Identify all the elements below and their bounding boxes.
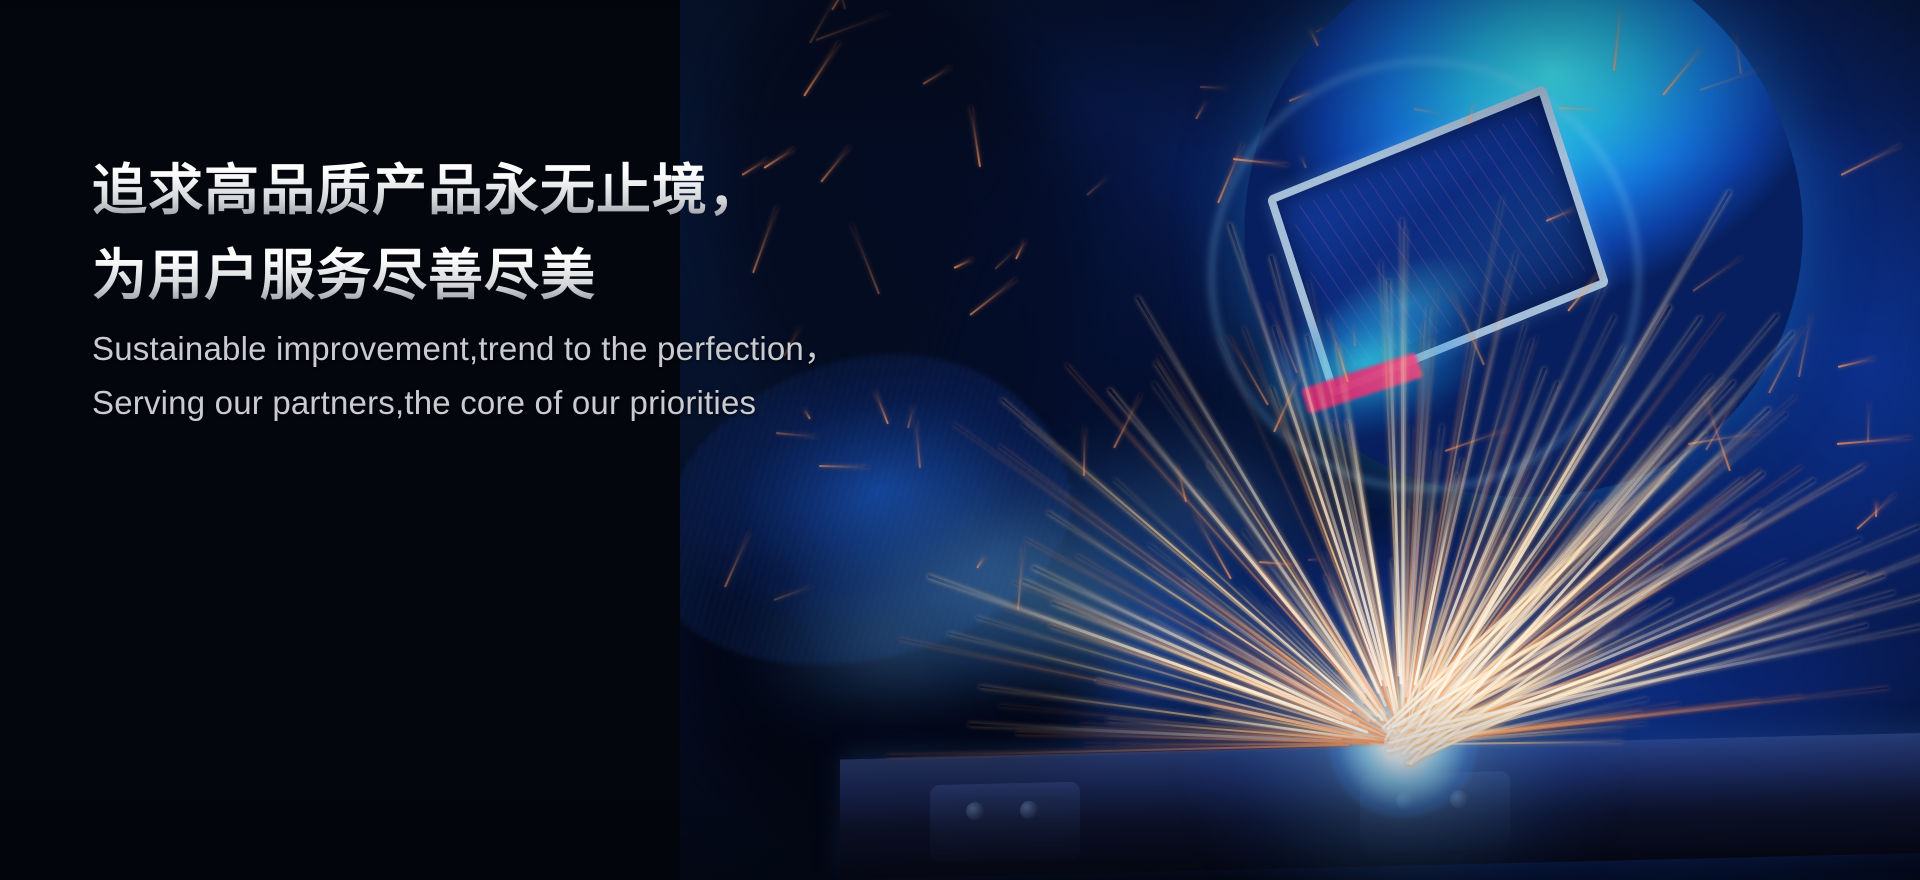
spark-ember	[1692, 255, 1743, 291]
subtitle-line-2: Serving our partners,the core of our pri…	[92, 380, 837, 426]
spark-ember	[1838, 357, 1876, 368]
headline-line-1: 追求高品质产品永无止境，	[92, 148, 837, 233]
spark-ember	[816, 12, 891, 41]
spark-ember	[1559, 107, 1597, 111]
spark-ember	[774, 585, 814, 601]
spark-ember	[1017, 546, 1024, 611]
spark-ember	[1837, 437, 1912, 445]
spark-ember	[1867, 401, 1870, 442]
left-black-fade	[0, 0, 520, 880]
spark-streak	[886, 744, 1349, 757]
spark-ember	[1546, 208, 1576, 222]
spark-ember	[1288, 92, 1310, 102]
subtitle-line-1: Sustainable improvement,trend to the per…	[92, 326, 837, 372]
spark-ember	[1734, 32, 1742, 74]
headline-line-2: 为用户服务尽善尽美	[92, 233, 837, 318]
spark-ember	[977, 556, 987, 569]
spark-ember	[819, 465, 869, 468]
spark-ember	[1414, 108, 1444, 115]
spark-ember	[969, 278, 1017, 316]
spark-ember	[831, 0, 866, 10]
spark-ember	[874, 390, 889, 424]
spark-ember	[969, 106, 980, 167]
spark-ember	[1699, 68, 1762, 91]
spark-ember	[1083, 427, 1086, 476]
spark-ember	[1327, 316, 1349, 383]
spark-ember	[1468, 101, 1475, 124]
spark-ember	[1217, 142, 1245, 204]
spark-field	[680, 0, 1920, 880]
spark-ember	[1233, 158, 1289, 166]
spark-ember	[1200, 86, 1228, 89]
spark-ember	[1798, 313, 1813, 377]
spark-ember	[1352, 321, 1356, 346]
spark-ember	[776, 432, 818, 438]
spark-ember	[850, 224, 880, 295]
spark-ember	[1316, 26, 1326, 33]
spark-ember	[1195, 101, 1207, 120]
welding-photo	[680, 0, 1920, 880]
spark-ember	[1613, 8, 1622, 71]
spark-ember	[724, 532, 750, 587]
spark-ember	[914, 420, 920, 469]
spark-ember	[922, 66, 951, 85]
hero-copy: 追求高品质产品永无止境， 为用户服务尽善尽美 Sustainable impro…	[92, 148, 837, 426]
spark-ember	[907, 405, 915, 428]
spark-ember	[1299, 155, 1306, 168]
spark-ember	[804, 41, 841, 96]
spark-ember	[1663, 46, 1704, 95]
hero-banner: 追求高品质产品永无止境， 为用户服务尽善尽美 Sustainable impro…	[0, 0, 1920, 880]
spark-ember	[1841, 144, 1902, 175]
spark-ember	[1086, 175, 1110, 196]
spark-ember	[953, 259, 973, 270]
